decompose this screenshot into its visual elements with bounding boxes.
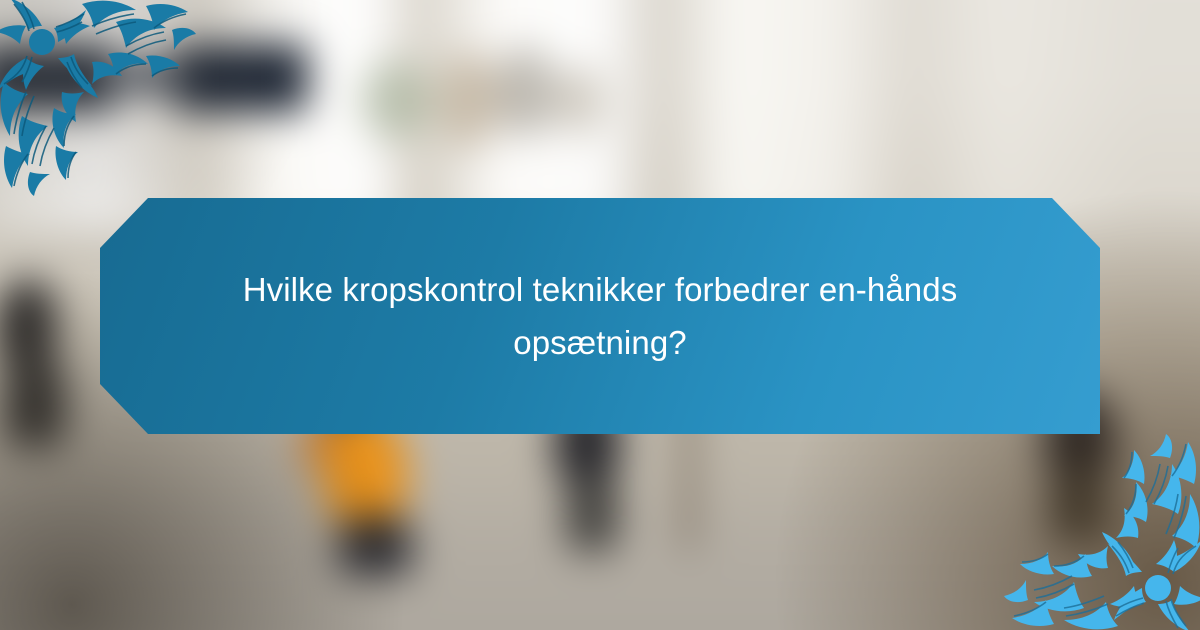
poster-canvas: Hvilke kropskontrol teknikker forbedrer … (0, 0, 1200, 630)
question-text: Hvilke kropskontrol teknikker forbedrer … (196, 263, 1004, 370)
question-banner: Hvilke kropskontrol teknikker forbedrer … (100, 198, 1100, 434)
